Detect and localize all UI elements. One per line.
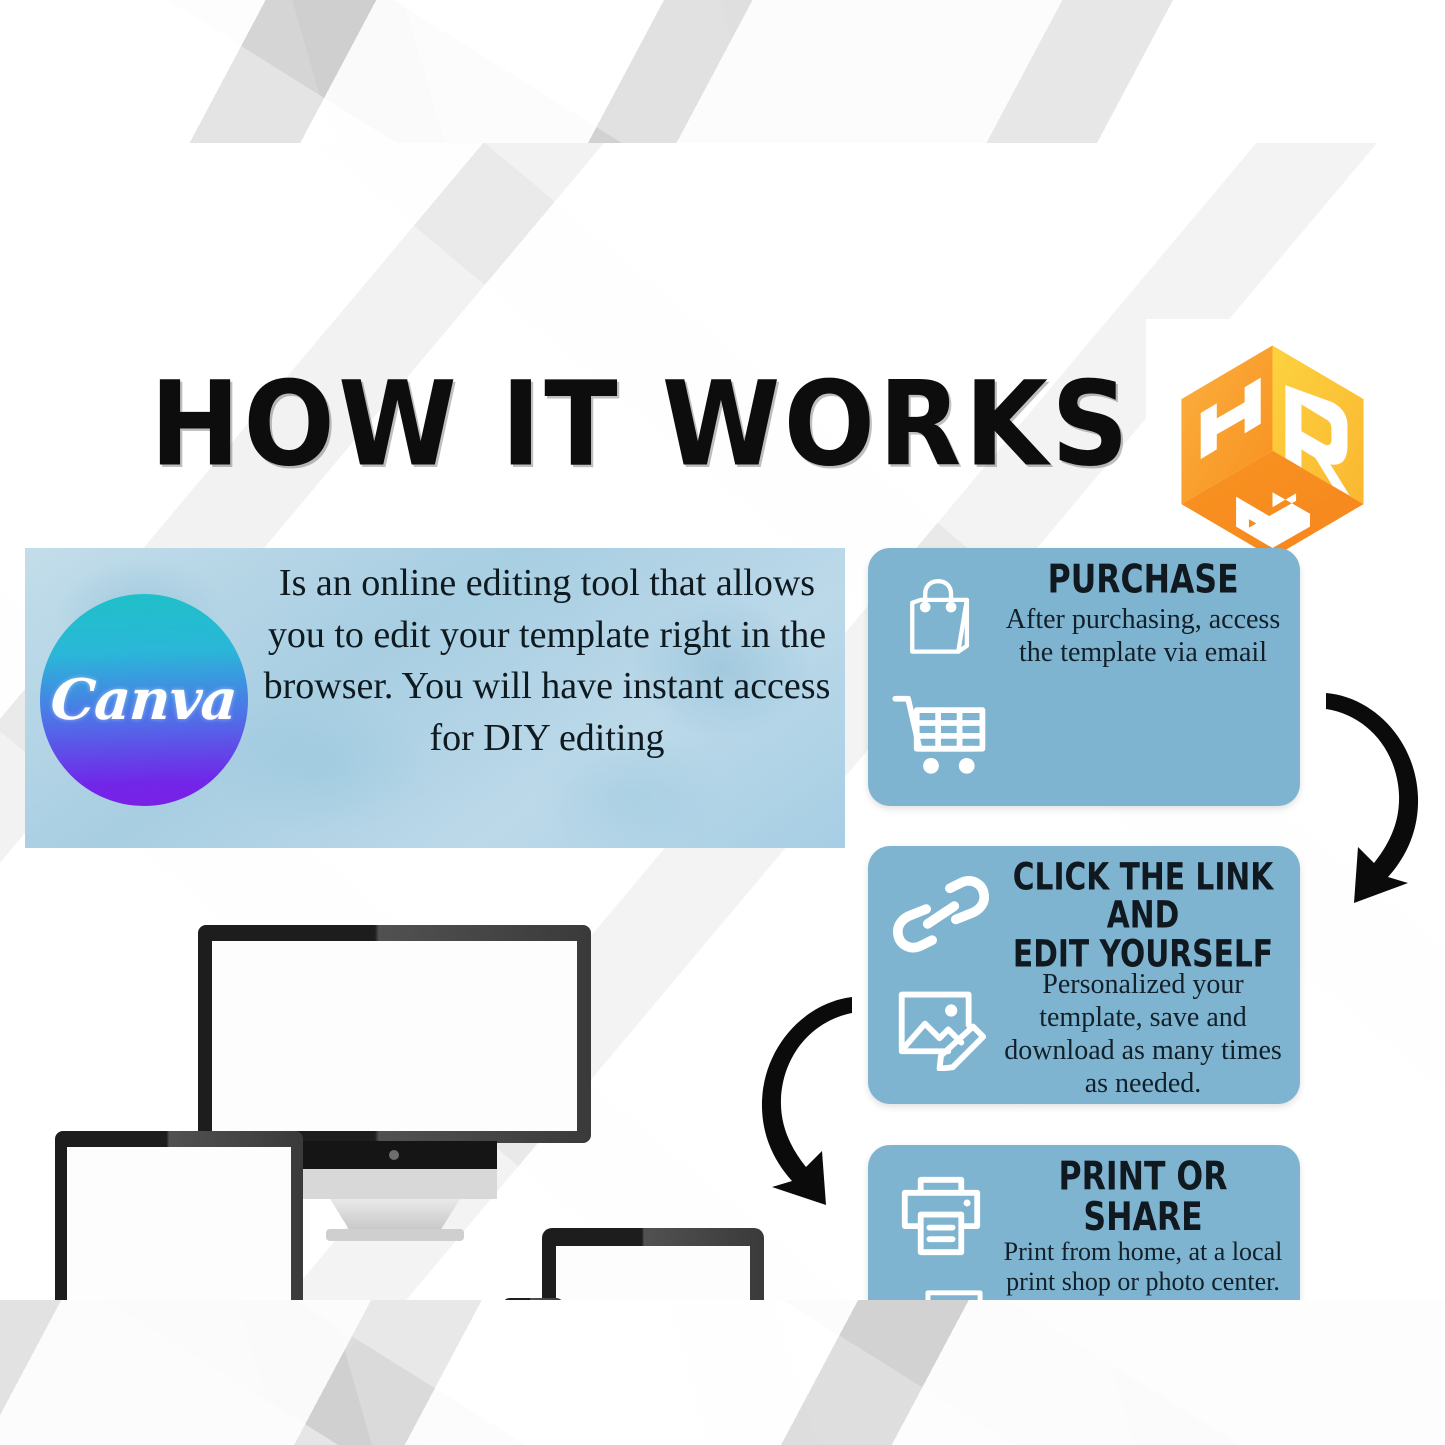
step-card-click-the-link[interactable]: CLICK THE LINK AND EDIT YOURSELF Persona… <box>868 846 1300 1104</box>
device-mockup-image <box>30 913 775 1300</box>
canva-info-block: Canva Is an online editing tool that all… <box>25 548 845 848</box>
purchase-icons <box>886 562 996 788</box>
canva-logo-text: Canva <box>49 667 239 733</box>
shopping-cart-icon <box>891 690 991 776</box>
arrow-edit-to-print-icon <box>748 981 880 1205</box>
poster-background: HOW IT WORKS <box>0 0 1445 1445</box>
step-text: Print from home, at a local print shop o… <box>996 1237 1290 1300</box>
image-edit-pencil-icon <box>893 985 989 1071</box>
edit-icons <box>886 860 996 1086</box>
social-chat-bubbles-icon <box>893 1287 989 1301</box>
page-title: HOW IT WORKS <box>150 356 1132 493</box>
step-heading: CLICK THE LINK AND EDIT YOURSELF <box>1011 858 1276 973</box>
step-card-purchase[interactable]: PURCHASE After purchasing, access the te… <box>868 548 1300 806</box>
printer-icon <box>894 1174 988 1258</box>
canva-logo-icon: Canva <box>40 594 248 806</box>
step-text: Personalized your template, save and dow… <box>996 968 1290 1100</box>
poster-inner-panel: HOW IT WORKS <box>0 143 1445 1300</box>
link-chain-icon <box>893 875 989 955</box>
brand-logo <box>1146 319 1399 581</box>
hrg-cube-icon <box>1165 338 1380 563</box>
step-card-print-or-share[interactable]: PRINT OR SHARE Print from home, at a loc… <box>868 1145 1300 1300</box>
step-heading: PURCHASE <box>1048 560 1239 601</box>
step-text: After purchasing, access the template vi… <box>996 603 1290 669</box>
devices-icon <box>30 913 775 1300</box>
arrow-purchase-to-edit-icon <box>1296 671 1445 903</box>
print-share-icons <box>886 1159 996 1300</box>
canva-description: Is an online editing tool that allows yo… <box>257 558 837 765</box>
shopping-bag-icon <box>895 574 987 666</box>
step-heading: PRINT OR SHARE <box>1011 1157 1276 1239</box>
